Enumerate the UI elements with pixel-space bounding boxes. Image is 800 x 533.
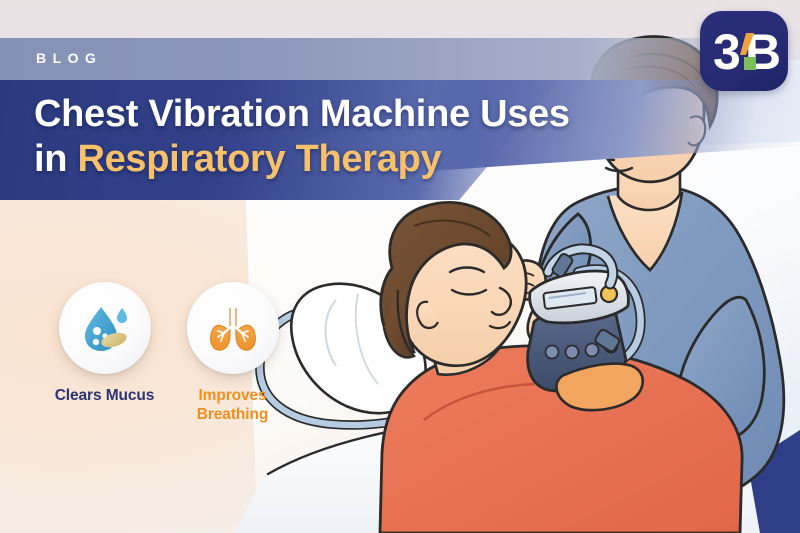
brand-logo[interactable]: 3 B: [700, 11, 788, 91]
svg-text:3: 3: [713, 24, 741, 80]
title-line-1: Chest Vibration Machine Uses: [34, 92, 614, 137]
feature-label-improves-breathing: Improves Breathing: [175, 387, 290, 425]
svg-text:B: B: [745, 24, 781, 80]
feature-label-line-1: Improves: [175, 387, 290, 406]
feature-label-clears-mucus: Clears Mucus: [47, 387, 162, 406]
blog-eyebrow-band: [0, 38, 800, 80]
water-droplet-mucus-icon: [76, 299, 134, 357]
logo-3b-icon: 3 B: [700, 11, 788, 91]
title-line-2-accent: Respiratory Therapy: [77, 138, 441, 180]
feature-badge-circle: [59, 282, 151, 374]
title-line-2: in Respiratory Therapy: [34, 137, 614, 182]
feature-badge-circle: [187, 282, 279, 374]
blog-banner-graphic: BLOG Chest Vibration Machine Uses in Res…: [0, 0, 800, 533]
blog-eyebrow-label: BLOG: [36, 50, 102, 66]
lungs-icon: [204, 299, 262, 357]
feature-clears-mucus: Clears Mucus: [47, 282, 162, 406]
page-title: Chest Vibration Machine Uses in Respirat…: [34, 92, 614, 182]
feature-improves-breathing: Improves Breathing: [175, 282, 290, 425]
title-line-2-prefix: in: [34, 138, 77, 180]
feature-label-line-2: Breathing: [175, 406, 290, 425]
